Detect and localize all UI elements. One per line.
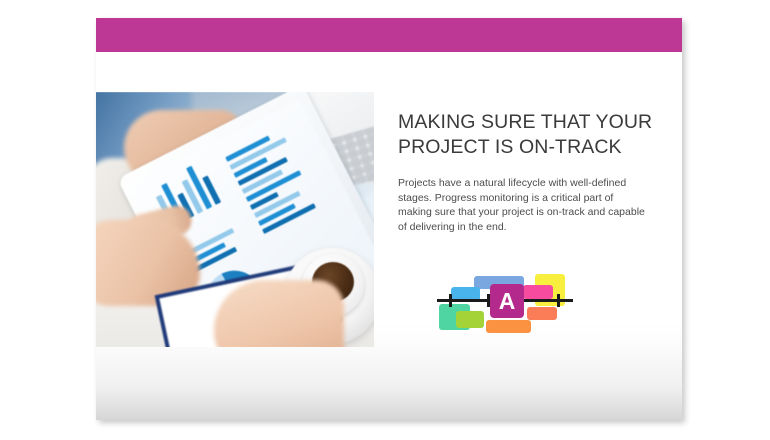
project-timeline-graphic: A [437, 271, 573, 333]
slide-title: MAKING SURE THAT YOUR PROJECT IS ON-TRAC… [398, 110, 656, 160]
timeline-tick-4 [557, 294, 560, 307]
business-meeting-photo [96, 92, 374, 347]
timeline-tick-1 [449, 294, 452, 307]
timeline-letter-a-badge: A [490, 284, 524, 318]
slide-header-banner [96, 18, 682, 52]
photo-hand-writing [214, 280, 344, 347]
orange-bar-bottom [486, 320, 531, 333]
presentation-slide: MAKING SURE THAT YOUR PROJECT IS ON-TRAC… [96, 18, 682, 420]
pink-bar [523, 285, 553, 299]
lime-bar [456, 311, 484, 328]
screenshot-canvas: MAKING SURE THAT YOUR PROJECT IS ON-TRAC… [0, 0, 770, 440]
slide-body-text: Projects have a natural lifecycle with w… [398, 176, 646, 234]
orange-bar-right [527, 307, 557, 320]
